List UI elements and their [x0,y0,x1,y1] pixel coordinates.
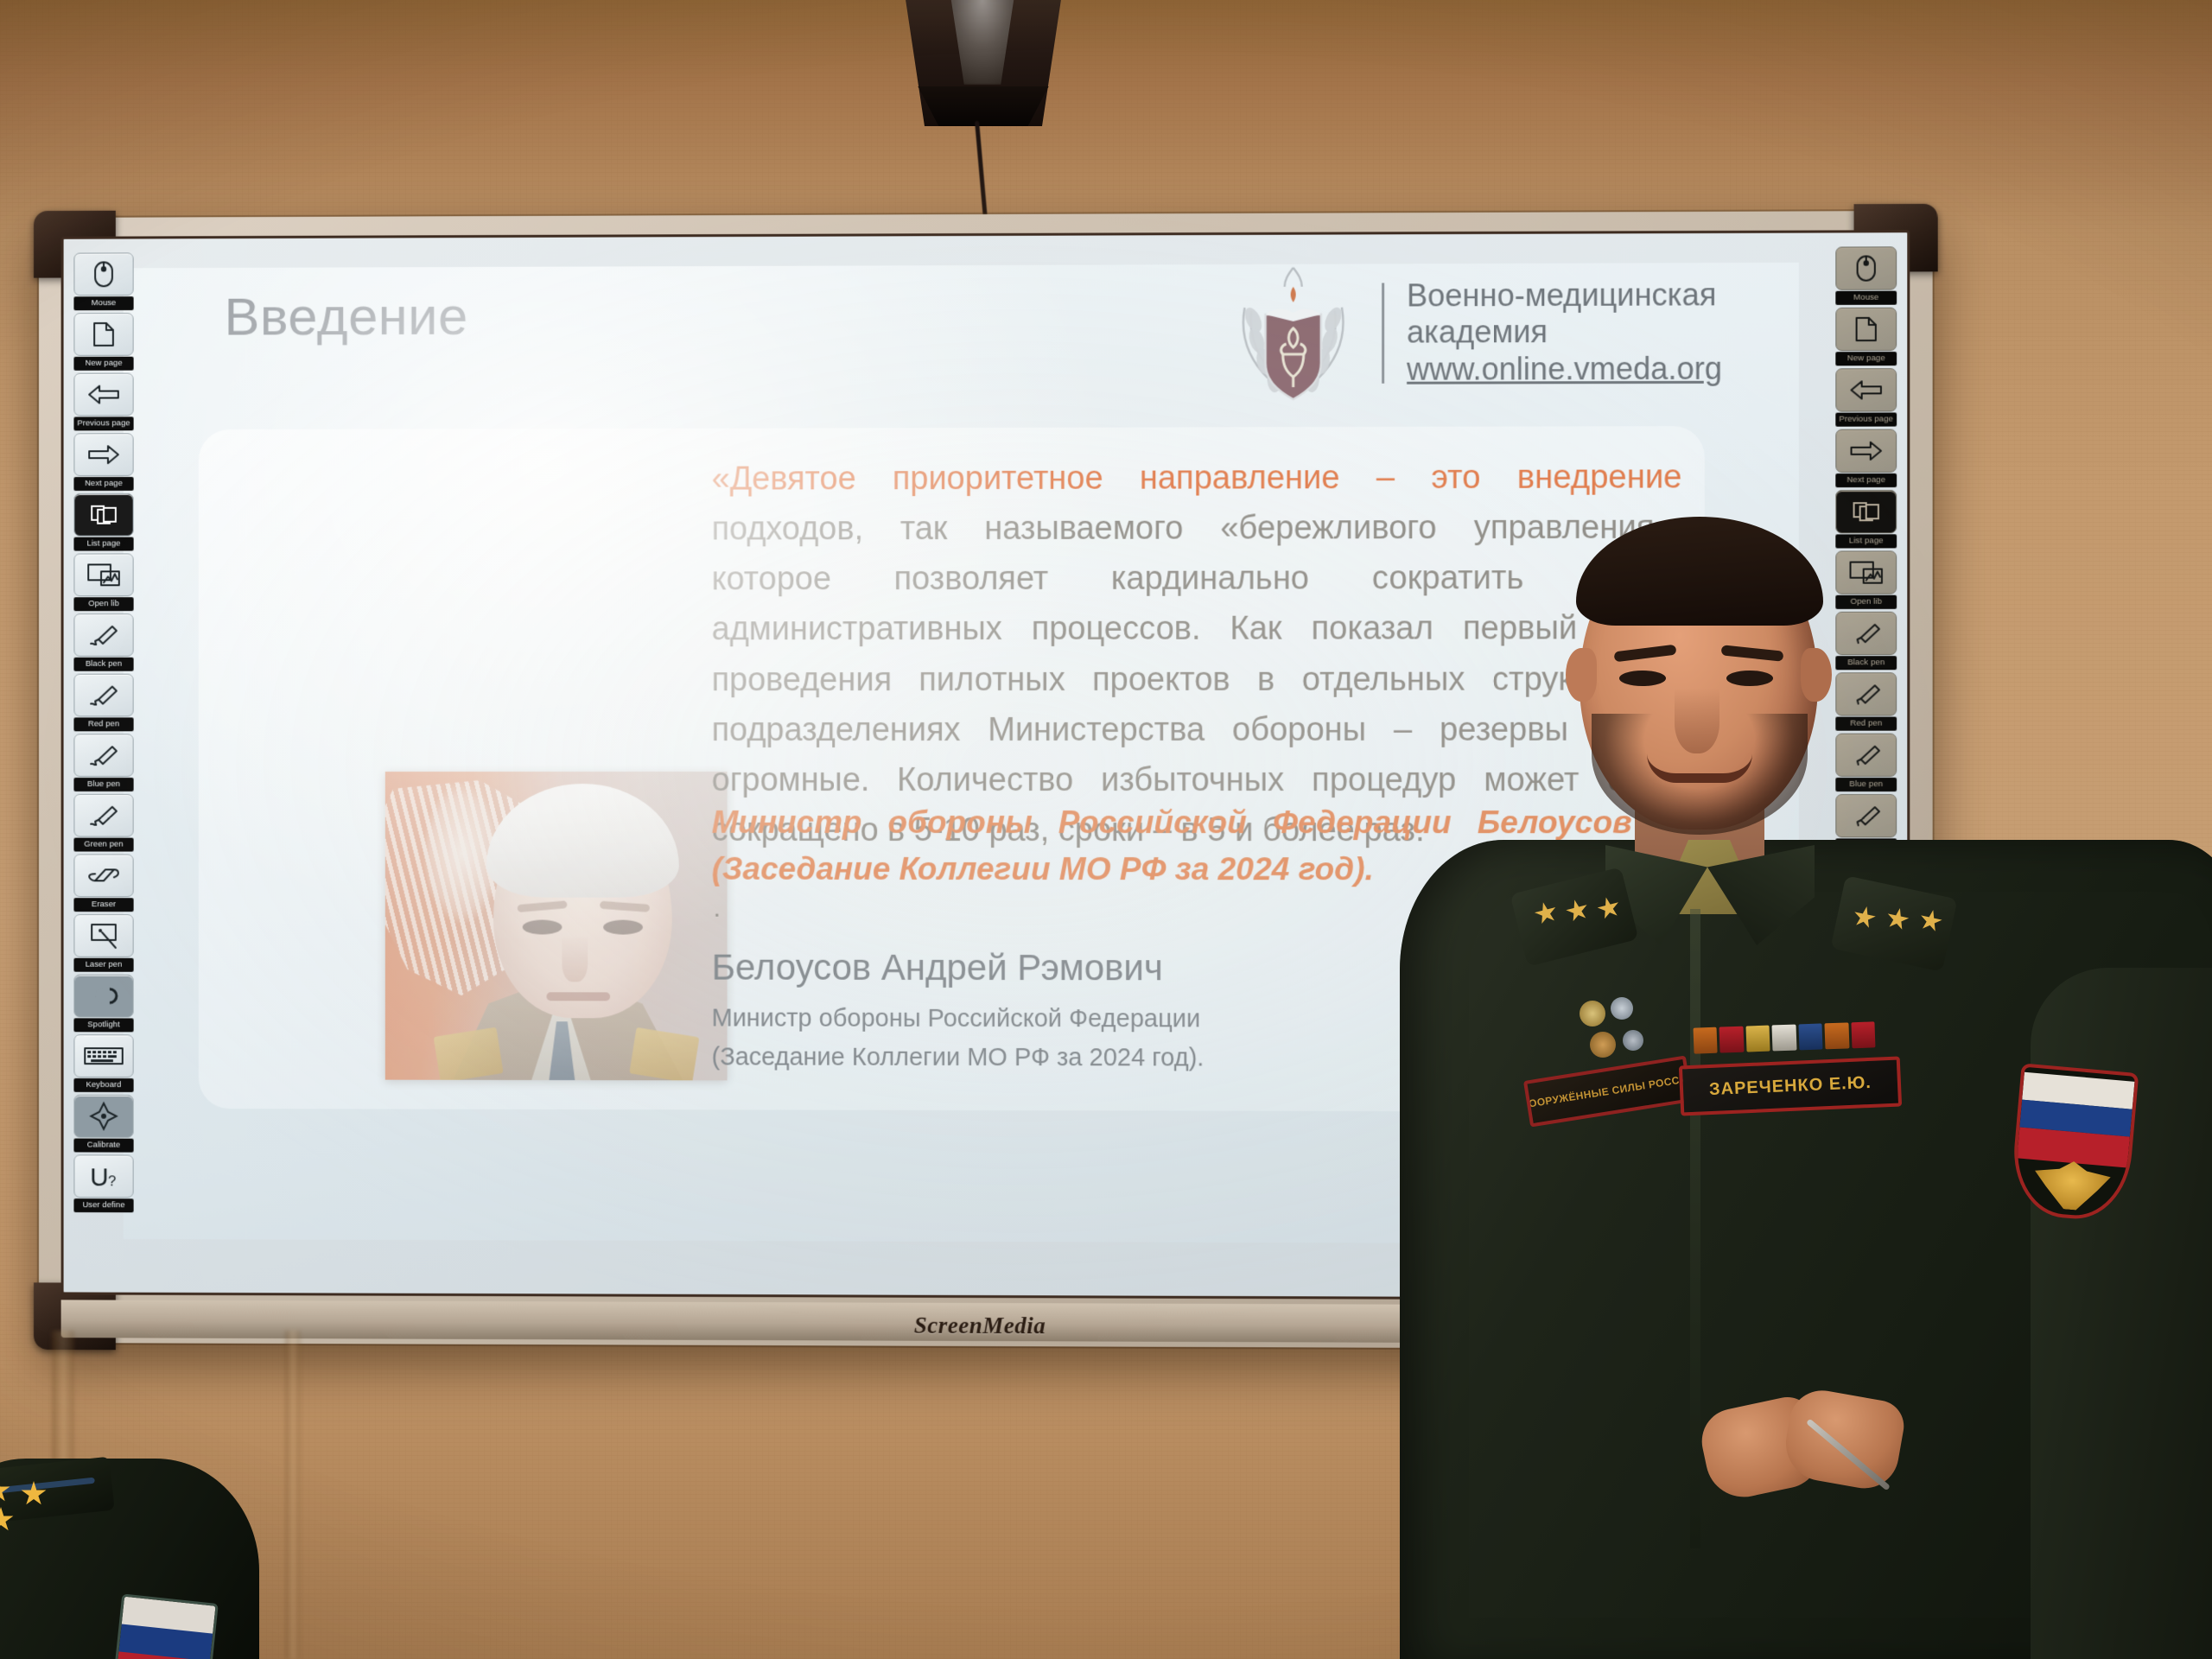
portrait-photo [385,772,728,1080]
slide-title: Введение [225,286,468,348]
tool-label: Mouse [1835,291,1897,305]
tool-label: Spotlight [73,1018,133,1032]
user-define-icon[interactable]: U? [73,1154,133,1198]
tool-label: Previous page [73,416,133,430]
name-tag-patch: ЗАРЕЧЕНКО Е.Ю. [1679,1056,1902,1116]
tool-label: New page [73,357,133,371]
military-medical-academy-emblem-icon [1227,263,1359,410]
tool-calibrate[interactable]: Calibrate [73,1095,133,1153]
tool-label: Black pen [73,658,133,671]
tool-label: Next page [73,477,133,491]
list-pages-icon[interactable] [73,493,133,537]
presenting-officer: ВООРУЖЁННЫЕ СИЛЫ РОССИИ ЗАРЕЧЕНКО Е.Ю. [1434,518,2212,1659]
tool-red-pen[interactable]: Red pen [73,674,133,732]
seated-officer-flag-patch [113,1593,219,1659]
tool-label: Blue pen [73,778,133,791]
tool-mouse[interactable]: Mouse [73,252,133,310]
arrow-left-icon[interactable] [73,373,133,416]
portrait-projection-wash [385,772,728,1080]
rank-star-icon [1532,899,1560,927]
logo-website-link[interactable]: www.online.vmeda.org [1407,351,1722,388]
tool-green-pen[interactable]: Green pen [73,794,133,852]
tool-label: Green pen [73,838,133,852]
tool-spotlight[interactable]: Spotlight [73,975,133,1033]
ribbon [1772,1025,1796,1052]
officer-mouth [1647,753,1752,783]
arrow-right-icon[interactable] [73,433,133,476]
tool-open-lib[interactable]: Open lib [73,553,133,611]
ribbon [1798,1023,1822,1050]
room-background: Mouse New page Previous page [0,0,2212,1659]
tool-label: List page [73,537,133,551]
tool-previous-page[interactable]: Previous page [73,373,133,431]
logo-line-1: Военно-медицинская [1407,277,1722,314]
officer-ear-right [1801,648,1832,702]
ribbon [1825,1022,1849,1049]
calibrate-icon[interactable] [73,1095,133,1138]
logo-text-block: Военно-медицинская академия www.online.v… [1407,277,1722,388]
pen-icon[interactable] [73,734,133,777]
page-icon[interactable] [1835,308,1897,351]
medal-icon [1580,1001,1605,1027]
tool-label: Open lib [73,597,133,611]
tool-label: Previous page [1835,412,1897,426]
seated-officer [0,1424,311,1659]
eraser-icon[interactable] [73,854,133,897]
pen-icon[interactable] [73,613,133,657]
ribbon [1694,1027,1718,1054]
officer-hair [1576,517,1823,626]
ribbon [1851,1021,1875,1048]
tool-eraser[interactable]: Eraser [73,854,133,912]
name-tag-text: ЗАРЕЧЕНКО Е.Ю. [1709,1072,1872,1099]
armed-forces-emblem-icon [2031,1158,2112,1212]
tool-new-page[interactable]: New page [1835,308,1897,366]
medal-icon [1623,1030,1643,1051]
logo-line-2: академия [1407,314,1722,350]
mouse-icon[interactable] [73,252,133,296]
tool-mouse[interactable]: Mouse [1835,246,1897,305]
keyboard-icon[interactable] [73,1034,133,1077]
rank-star-icon [1595,894,1623,922]
rank-star-icon [1917,907,1944,934]
tool-list-page[interactable]: List page [73,493,133,551]
officer-ear-left [1566,648,1597,702]
whiteboard-toolbar-left[interactable]: Mouse New page Previous page [73,252,133,1212]
ribbon [1719,1027,1744,1053]
medal-icon [1611,997,1633,1020]
laser-pointer-icon[interactable] [73,914,133,957]
tool-new-page[interactable]: New page [73,313,133,371]
svg-text:?: ? [108,1173,116,1189]
tool-next-page[interactable]: Next page [1835,429,1897,488]
tool-label: Mouse [73,296,133,310]
tool-label: Calibrate [73,1139,133,1153]
tool-blue-pen[interactable]: Blue pen [73,734,133,791]
unit-patch-text: ВООРУЖЁННЫЕ СИЛЫ РОССИИ [1523,1071,1693,1111]
page-icon[interactable] [73,313,133,356]
quote-trailing-dot: . [714,894,721,924]
rank-star-icon [1885,906,1911,932]
tool-label: User define [73,1198,133,1212]
arrow-left-icon[interactable] [1835,368,1897,411]
rank-star-icon [1564,897,1592,925]
officer-jacket-placket [1690,909,1700,1548]
officer-hands [1704,1391,1929,1529]
tool-laser-pen[interactable]: Laser pen [73,914,133,972]
tool-label: Eraser [73,898,133,912]
tool-keyboard[interactable]: Keyboard [73,1034,133,1092]
tool-black-pen[interactable]: Black pen [73,613,133,671]
spotlight-icon[interactable] [73,975,133,1018]
arrow-right-icon[interactable] [1835,429,1897,473]
medal-icon [1590,1032,1616,1058]
officer-eye-left [1619,671,1666,686]
tool-label: Red pen [73,717,133,731]
tool-label: Laser pen [73,958,133,972]
academy-logo-block: Военно-медицинская академия www.online.v… [1227,263,1722,410]
mouse-icon[interactable] [1835,246,1897,290]
pen-icon[interactable] [73,794,133,837]
tool-previous-page[interactable]: Previous page [1835,368,1897,427]
svg-text:U: U [90,1163,108,1191]
tool-label: Keyboard [73,1078,133,1092]
rank-star-icon [1851,904,1878,931]
officer-eye-right [1726,671,1773,686]
quote-lead: «Девятое приоритетное направление – это … [712,459,1682,497]
pen-icon[interactable] [73,674,133,717]
tool-user-define[interactable]: U? User define [73,1154,133,1212]
tool-label: Next page [1835,474,1897,487]
tool-label: New page [1835,352,1897,365]
tool-next-page[interactable]: Next page [73,433,133,491]
open-library-icon[interactable] [73,553,133,596]
officer-nose [1675,688,1719,753]
ribbon [1745,1026,1770,1052]
logo-divider [1382,283,1384,383]
